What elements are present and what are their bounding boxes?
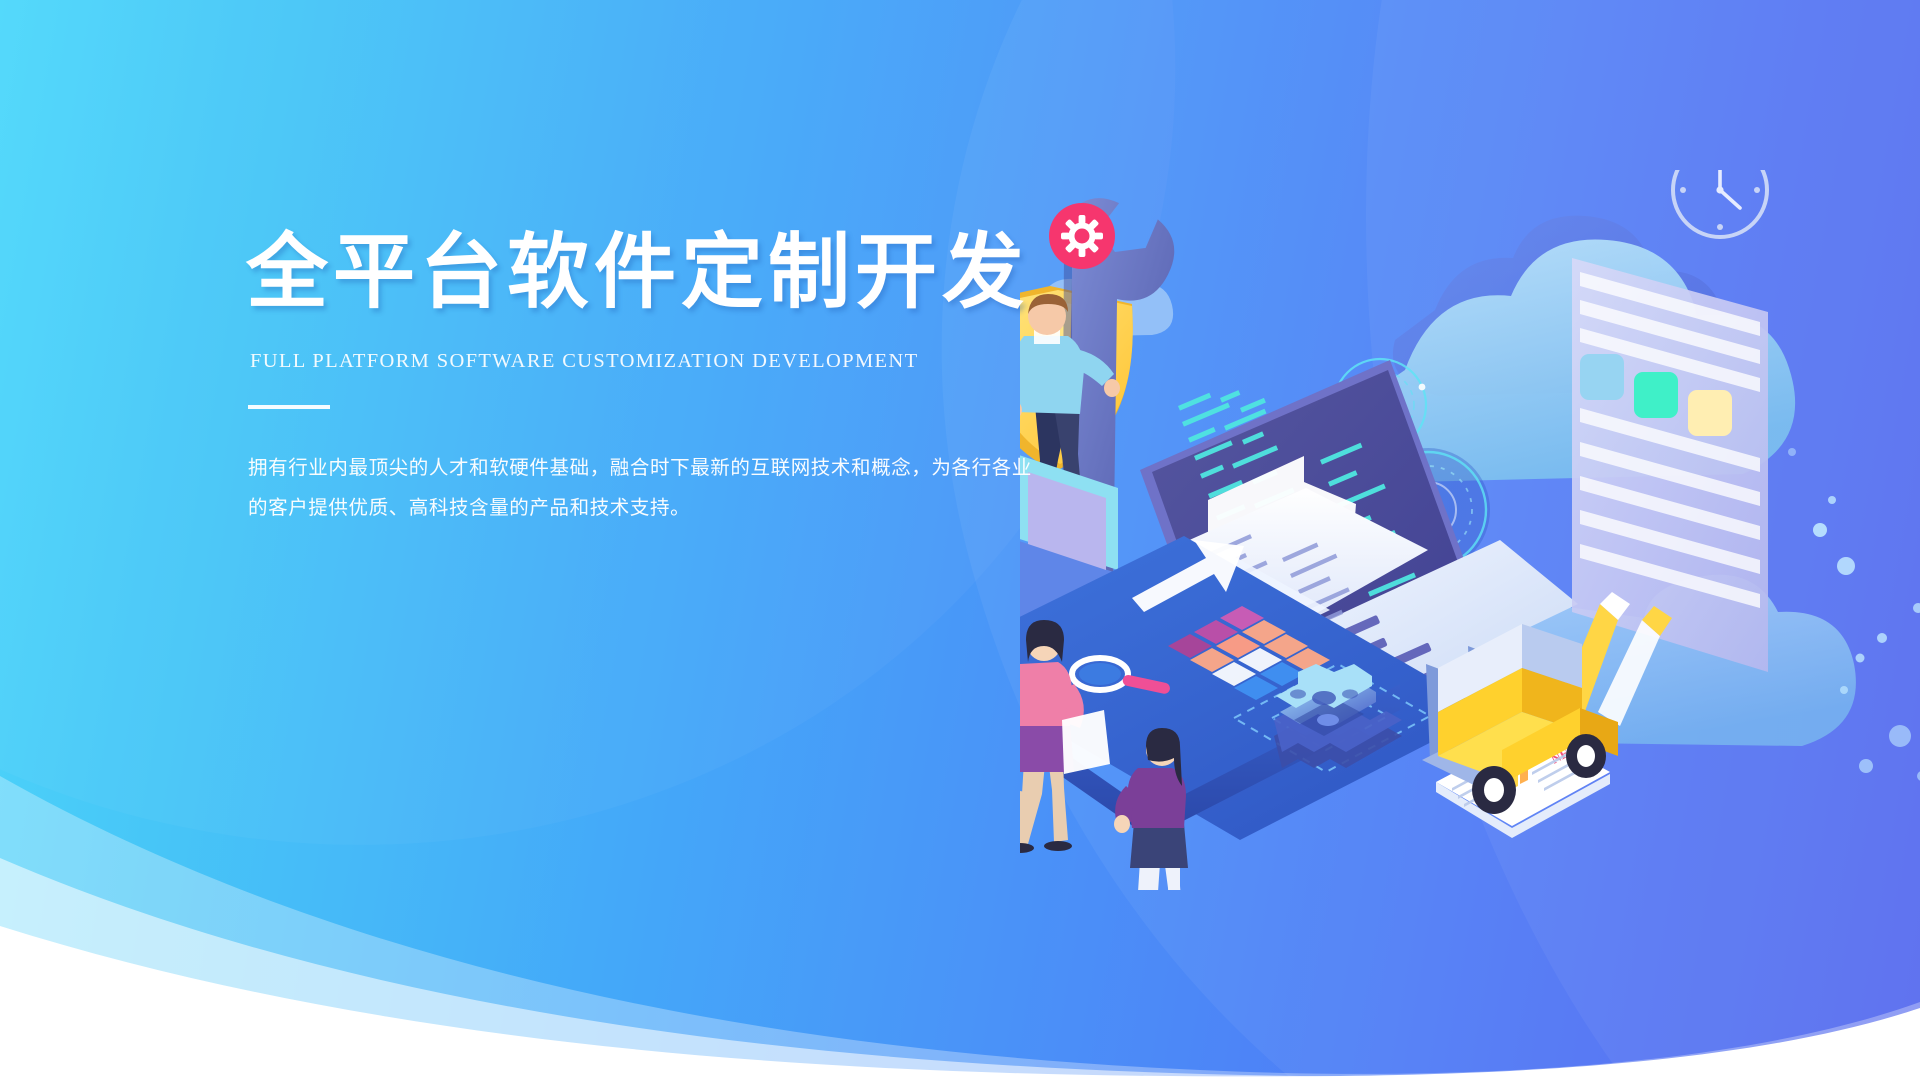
hero-description: 拥有行业内最顶尖的人才和软硬件基础，融合时下最新的互联网技术和概念，为各行各业的… xyxy=(248,449,1038,529)
hero-copy-block: 全平台软件定制开发 FULL PLATFORM SOFTWARE CUSTOMI… xyxy=(246,232,1066,529)
page-title: 全平台软件定制开发 xyxy=(246,232,1066,314)
hero-banner: NEWS xyxy=(0,0,1920,1080)
clock-icon xyxy=(1673,170,1767,237)
bottom-wave-decoration xyxy=(0,740,1920,1080)
page-subtitle: FULL PLATFORM SOFTWARE CUSTOMIZATION DEV… xyxy=(250,350,1066,373)
title-divider xyxy=(248,405,330,409)
